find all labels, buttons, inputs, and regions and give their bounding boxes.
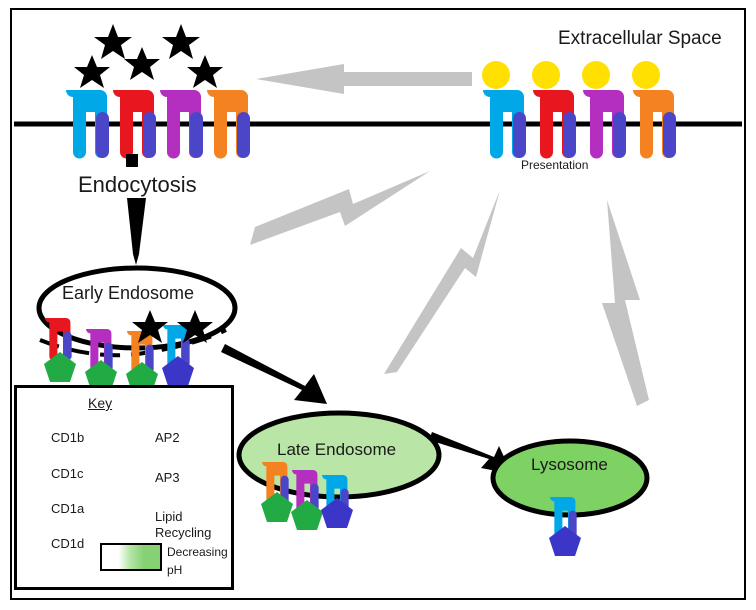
endocytosis-vesicle-marker: [126, 154, 138, 167]
legend-label-ph-decreasing: Decreasing: [167, 545, 228, 559]
lipid-star-icon: [74, 55, 110, 88]
extracellular-space-label: Extracellular Space: [558, 28, 722, 50]
lipid-stars-extracellular: [74, 24, 223, 88]
diagram-canvas: Extracellular Space Endocytosis Presenta…: [0, 0, 756, 610]
late-endosome-label: Late Endosome: [277, 440, 396, 460]
recycling-arrows: [250, 64, 649, 406]
early-endosome-label: Early Endosome: [62, 283, 194, 304]
presentation-molecule-cd1c: [582, 61, 626, 159]
recycling-arrow-late-to-presentation: [384, 190, 500, 374]
early-endosome-cargo: [40, 310, 226, 392]
lipid-yellow-icon: [582, 61, 610, 89]
legend-label-cd1a: CD1a: [51, 501, 84, 516]
legend-ph-gradient-swatch: [100, 543, 162, 571]
lysosome-label: Lysosome: [531, 455, 608, 475]
legend-label-cd1c: CD1c: [51, 466, 84, 481]
recycling-arrow-to-membrane: [256, 64, 472, 94]
legend-label-cd1d: CD1d: [51, 536, 84, 551]
legend-label-ap2: AP2: [155, 430, 180, 445]
presentation-molecule-cd1a: [532, 61, 576, 159]
lipid-star-icon: [187, 55, 223, 88]
presentation-molecule-cd1d: [632, 61, 676, 159]
legend-label-recycling: Recycling: [155, 525, 211, 540]
legend-label-cd1b: CD1b: [51, 430, 84, 445]
lipid-star-icon: [124, 47, 160, 80]
lipid-star-icon: [162, 24, 200, 59]
lipid-yellow-icon: [482, 61, 510, 89]
presentation-molecule-cd1b: [482, 61, 526, 159]
legend-label-ap3: AP3: [155, 470, 180, 485]
presentation-cd1-group: [482, 61, 676, 159]
endocytosis-label: Endocytosis: [78, 172, 197, 198]
presentation-label: Presentation: [521, 158, 588, 172]
lipid-yellow-icon: [532, 61, 560, 89]
arrow-early-to-late: [221, 344, 327, 404]
recycling-arrow-lysosome-to-presentation: [602, 200, 649, 406]
legend-label-ph: pH: [167, 563, 182, 577]
lipid-star-icon: [94, 24, 132, 59]
legend-title: Key: [88, 395, 112, 411]
endocytosis-arrow: [127, 198, 146, 265]
legend-label-lipid: Lipid: [155, 509, 182, 524]
recycling-arrow-early-to-presentation: [250, 171, 430, 245]
lipid-yellow-icon: [632, 61, 660, 89]
